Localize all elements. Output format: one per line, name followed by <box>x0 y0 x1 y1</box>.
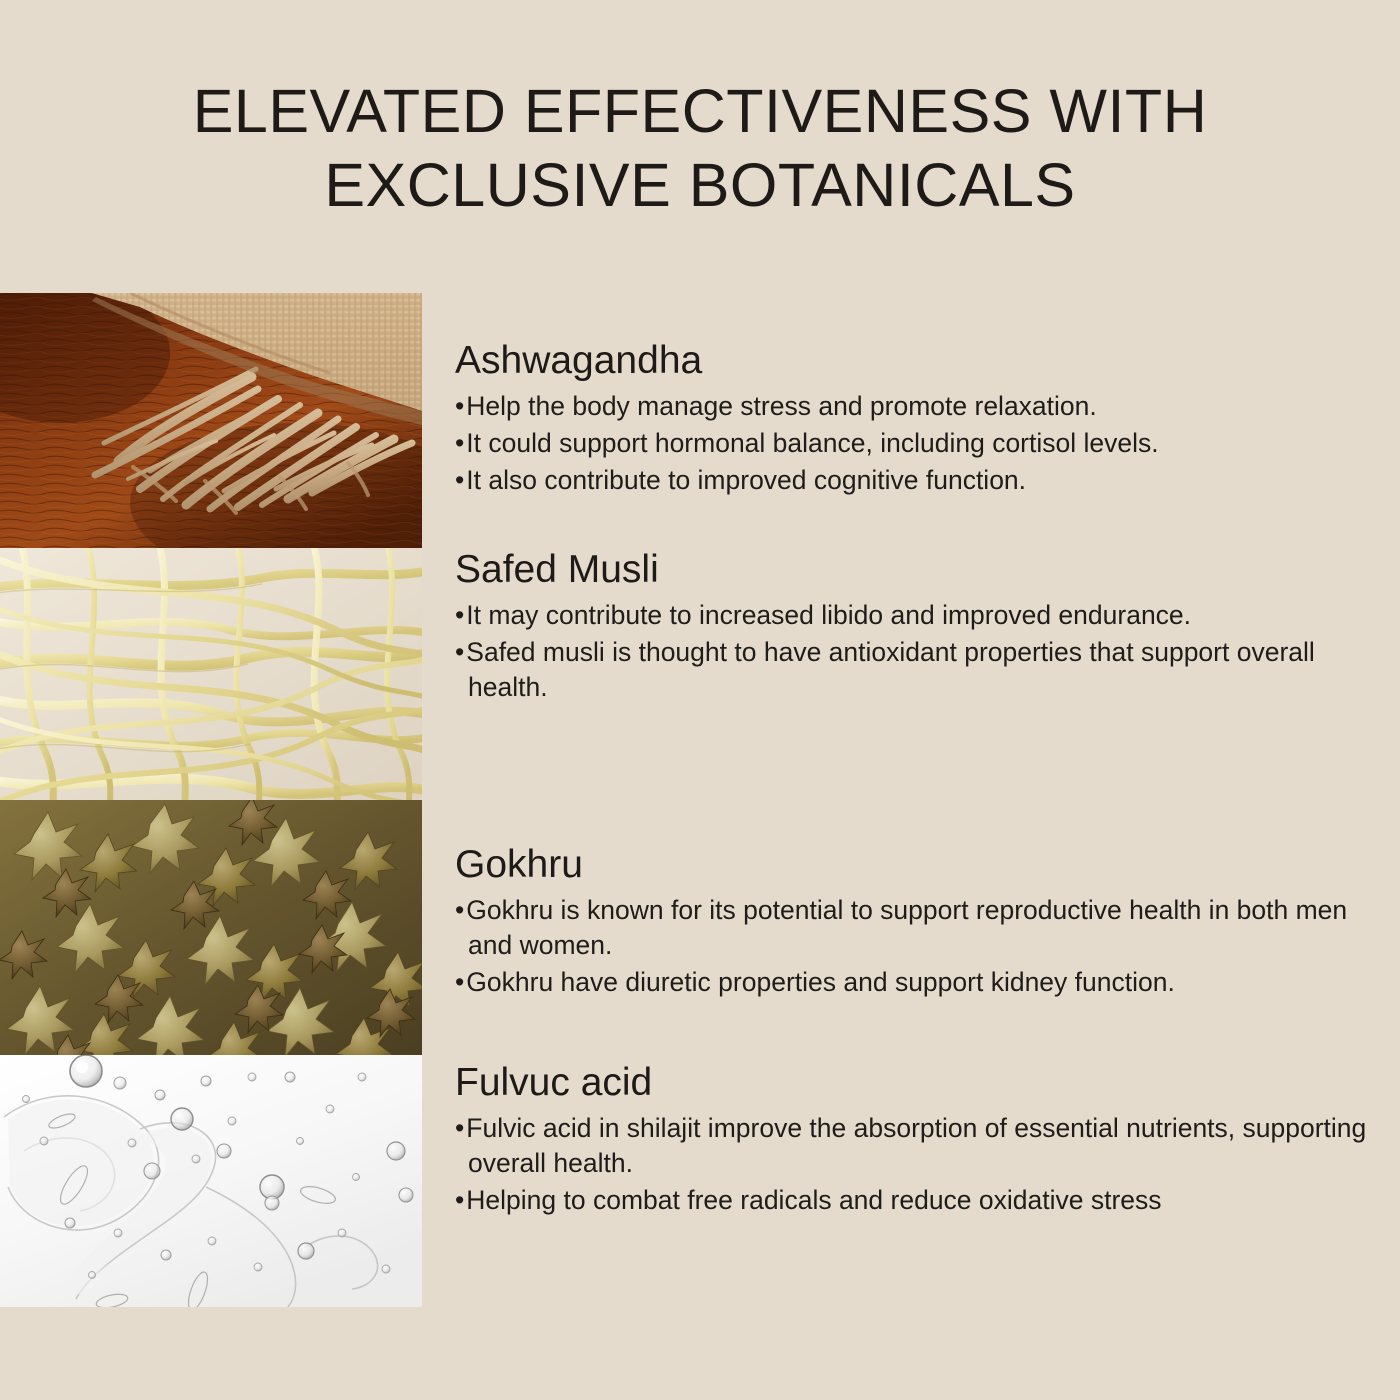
ingredient-copy: Ashwagandha Help the body manage stress … <box>422 293 1400 501</box>
page-title-line-2: EXCLUSIVE BOTANICALS <box>0 148 1400 222</box>
ingredient-row: Gokhru Gokhru is known for its potential… <box>0 800 1400 1055</box>
safed-musli-photo <box>0 548 422 800</box>
fulvic-acid-photo <box>0 1055 422 1307</box>
ingredient-benefits: It may contribute to increased libido an… <box>455 598 1380 706</box>
ingredient-name: Safed Musli <box>455 550 1380 591</box>
benefit-item: Gokhru have diuretic properties and supp… <box>455 965 1380 1000</box>
benefit-item: Gokhru is known for its potential to sup… <box>455 893 1380 963</box>
benefit-item: It may contribute to increased libido an… <box>455 598 1380 633</box>
page-title: ELEVATED EFFECTIVENESS WITH EXCLUSIVE BO… <box>0 0 1400 223</box>
ashwagandha-photo <box>0 293 422 548</box>
ingredient-row: Ashwagandha Help the body manage stress … <box>0 293 1400 548</box>
ingredient-list: Ashwagandha Help the body manage stress … <box>0 293 1400 1307</box>
ingredient-benefits: Gokhru is known for its potential to sup… <box>455 893 1380 1001</box>
ingredient-name: Fulvuc acid <box>455 1063 1380 1104</box>
ingredient-row: Safed Musli It may contribute to increas… <box>0 548 1400 800</box>
benefit-item: Help the body manage stress and promote … <box>455 389 1380 424</box>
ingredient-name: Ashwagandha <box>455 341 1380 382</box>
benefit-item: It could support hormonal balance, inclu… <box>455 426 1380 461</box>
benefit-item: Fulvic acid in shilajit improve the abso… <box>455 1111 1380 1181</box>
ingredient-copy: Fulvuc acid Fulvic acid in shilajit impr… <box>422 1055 1400 1221</box>
ingredient-benefits: Help the body manage stress and promote … <box>455 389 1380 499</box>
ingredient-row: Fulvuc acid Fulvic acid in shilajit impr… <box>0 1055 1400 1307</box>
page-title-line-1: ELEVATED EFFECTIVENESS WITH <box>0 74 1400 148</box>
gokhru-photo <box>0 800 422 1055</box>
ingredient-name: Gokhru <box>455 845 1380 886</box>
benefit-item: Helping to combat free radicals and redu… <box>455 1183 1380 1218</box>
benefit-item: It also contribute to improved cognitive… <box>455 463 1380 498</box>
ingredient-copy: Safed Musli It may contribute to increas… <box>422 548 1400 708</box>
benefit-item: Safed musli is thought to have antioxida… <box>455 635 1380 705</box>
ingredient-benefits: Fulvic acid in shilajit improve the abso… <box>455 1111 1380 1219</box>
ingredient-copy: Gokhru Gokhru is known for its potential… <box>422 800 1400 1003</box>
